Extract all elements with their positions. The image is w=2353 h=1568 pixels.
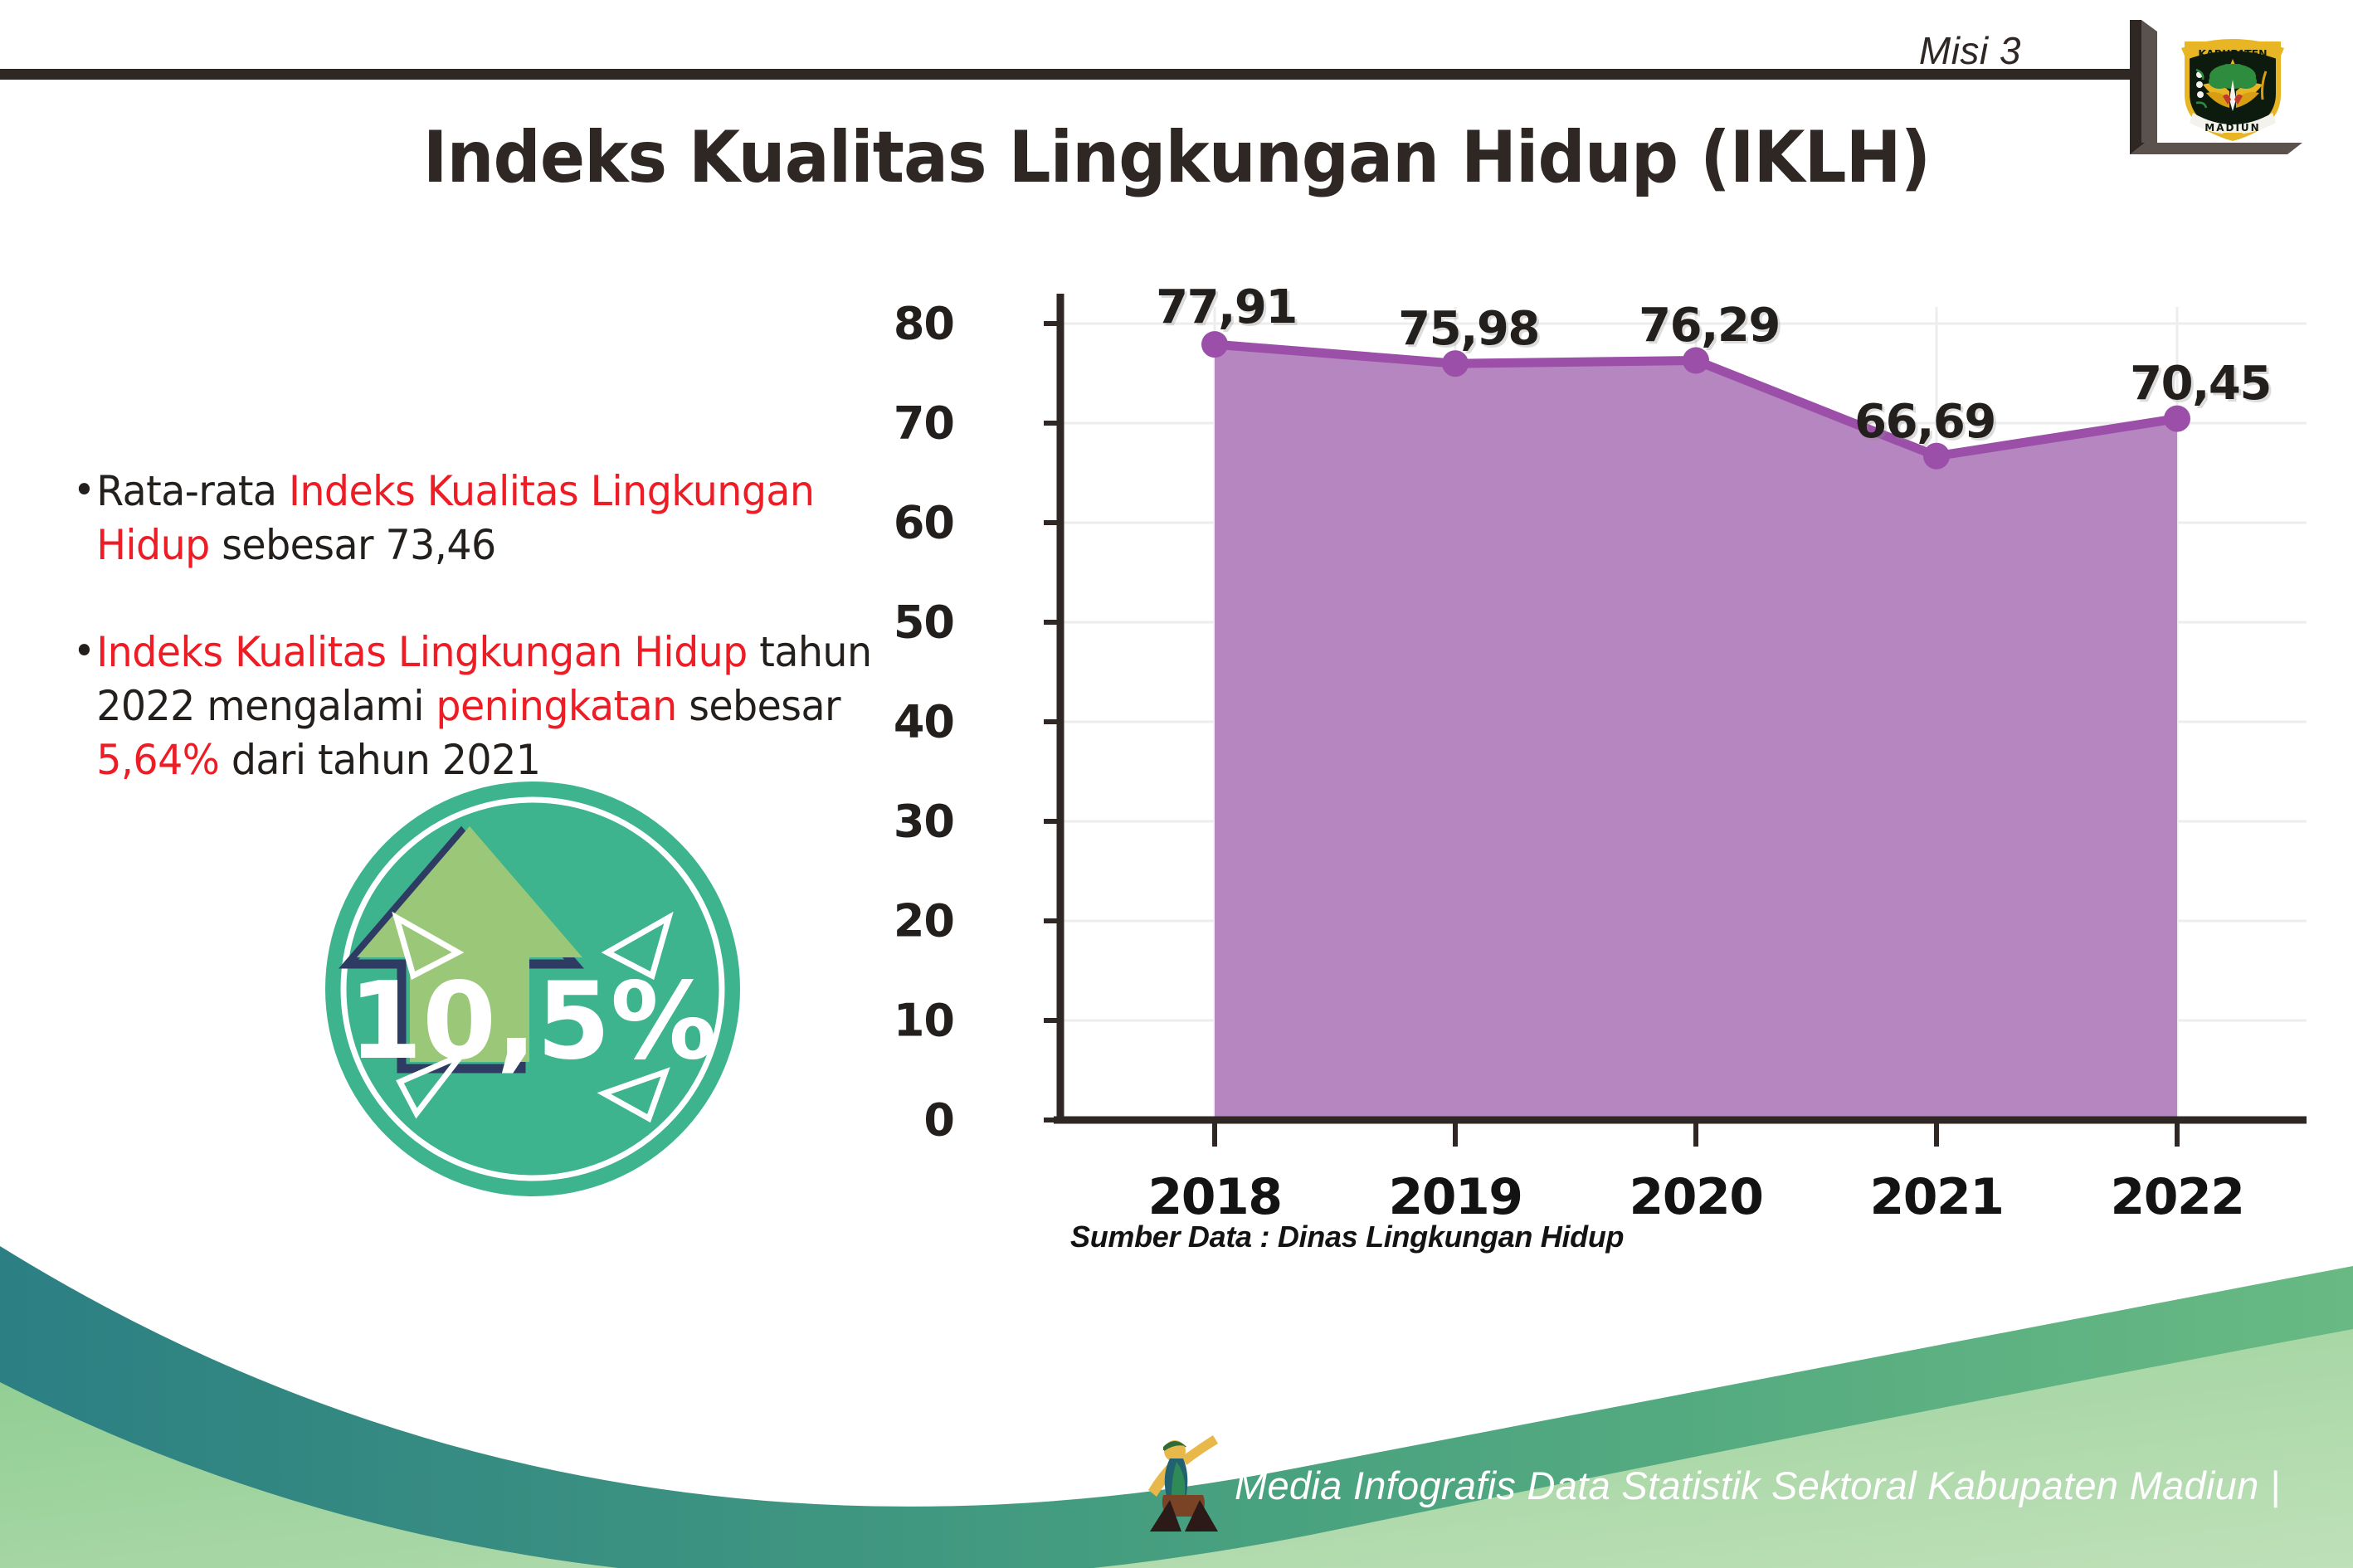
data-label: 66,69 [1854,395,1995,449]
x-tick-label: 2018 [1148,1168,1282,1226]
y-tick-label: 20 [855,895,954,947]
y-tick-label: 40 [855,696,954,748]
y-tick-label: 30 [855,796,954,848]
list-item: • Rata-rata Indeks Kualitas Lingkungan H… [73,465,909,572]
text-segment-accent: 5,64% [96,736,219,784]
text-segment: Rata-rata [96,467,289,515]
increase-badge: 10,5% [307,730,772,1211]
data-label: 76,29 [1639,299,1780,353]
text-segment: sebesar 73,46 [210,521,496,569]
highlight-text-1: Rata-rata Indeks Kualitas Lingkungan Hid… [96,465,909,572]
page-title: Indeks Kualitas Lingkungan Hidup (IKLH) [82,116,2270,199]
x-tick-label: 2020 [1630,1168,1763,1226]
area-fill [1215,344,2177,1120]
y-tick-label: 70 [855,397,954,450]
x-tick-label: 2022 [2111,1168,2244,1226]
x-tick-marks [1215,1120,2177,1147]
y-tick-label: 80 [855,298,954,350]
chart-canvas [962,274,2307,1203]
bullet-marker: • [73,465,95,516]
logo-top-text: KABUPATEN [2198,47,2267,60]
data-label: 70,45 [2130,357,2271,411]
bullet-marker: • [73,626,95,677]
misi-label: Misi 3 [1919,28,2021,73]
x-tick-label: 2021 [1870,1168,2004,1226]
y-tick-label: 0 [855,1094,954,1147]
data-label: 77,91 [1156,280,1297,334]
x-tick-label: 2019 [1389,1168,1522,1226]
y-tick-label: 10 [855,995,954,1047]
text-segment-accent: peningkatan [436,682,676,730]
badge-value: 10,5% [348,960,717,1083]
data-point [1201,331,1228,358]
text-segment: sebesar [677,682,840,730]
data-label: 75,98 [1398,302,1539,356]
dancer-icon [1138,1429,1225,1533]
footer-caption: Media Infografis Data Statistik Sektoral… [1235,1463,2280,1508]
text-segment-accent: Indeks Kualitas Lingkungan Hidup [96,628,748,676]
y-tick-label: 60 [855,497,954,549]
iklh-area-chart: 0 10 20 30 40 50 60 70 80 2018 2019 2020… [962,274,2307,1203]
y-tick-label: 50 [855,597,954,649]
